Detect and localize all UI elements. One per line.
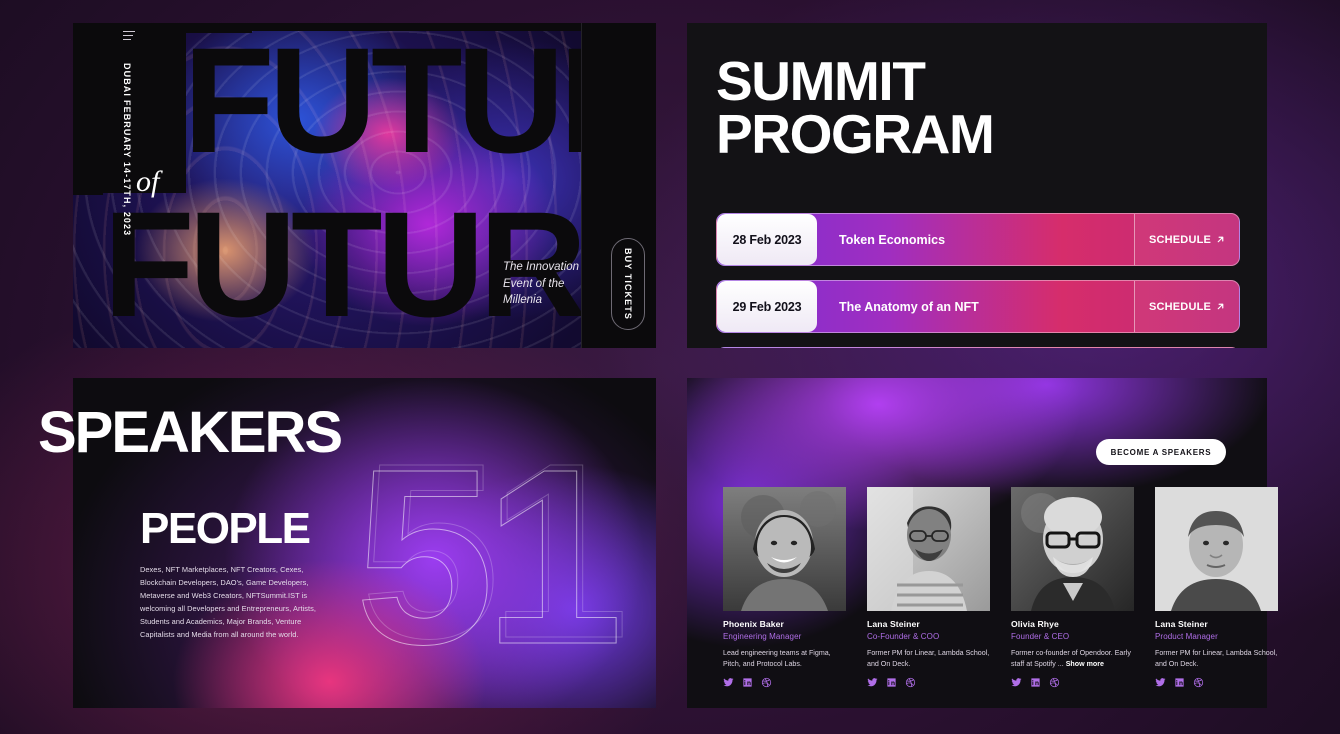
dribbble-icon[interactable] — [1049, 677, 1060, 688]
speaker-grid: Phoenix Baker Engineering Manager Lead e… — [723, 487, 1235, 688]
program-title-line2: PROGRAM — [716, 108, 993, 161]
table-row[interactable] — [716, 347, 1240, 348]
hero-date-label: FEBRUARY 14-17TH, 2023 — [122, 100, 132, 236]
slide-deck-canvas: FUTURE FUTURE of The Innovation Event of… — [0, 0, 1340, 734]
program-title: SUMMIT PROGRAM — [716, 55, 993, 161]
schedule-button-label: SCHEDULE — [1149, 234, 1211, 246]
speaker-bio: Former PM for Linear, Lambda School, and… — [867, 648, 990, 670]
linkedin-icon[interactable] — [742, 677, 753, 688]
speaker-role: Engineering Manager — [723, 632, 846, 641]
schedule-button-label: SCHEDULE — [1149, 301, 1211, 313]
arrow-up-right-icon — [1216, 235, 1225, 244]
buy-tickets-label: BUY TICKETS — [623, 248, 633, 320]
people-description: Dexes, NFT Marketplaces, NFT Creators, C… — [140, 564, 322, 642]
speaker-bio: Former co-founder of Opendoor. Early sta… — [1011, 648, 1134, 670]
linkedin-icon[interactable] — [1030, 677, 1041, 688]
speaker-card[interactable]: Lana Steiner Co-Founder & COO Former PM … — [867, 487, 990, 688]
avatar — [867, 487, 990, 611]
schedule-date: 28 Feb 2023 — [717, 214, 817, 265]
schedule-button[interactable]: SCHEDULE — [1134, 281, 1239, 332]
speaker-social-links — [1155, 677, 1278, 688]
twitter-icon[interactable] — [1155, 677, 1166, 688]
dribbble-icon[interactable] — [761, 677, 772, 688]
speaker-name: Phoenix Baker — [723, 619, 846, 629]
speaker-name: Lana Steiner — [867, 619, 990, 629]
speaker-role: Co-Founder & COO — [867, 632, 990, 641]
hero-panel: FUTURE FUTURE of The Innovation Event of… — [73, 23, 656, 348]
schedule-title: The Anatomy of an NFT — [817, 281, 1134, 332]
hero-city-label: DUBAI — [122, 63, 132, 97]
speaker-portrait-4 — [1155, 487, 1278, 611]
hero-word-of: of — [136, 165, 159, 199]
schedule-list: 28 Feb 2023 Token Economics SCHEDULE 29 … — [716, 213, 1240, 348]
page-title: PEOPLE — [140, 504, 310, 554]
table-row[interactable]: 28 Feb 2023 Token Economics SCHEDULE — [716, 213, 1240, 266]
speaker-card[interactable]: Olivia Rhye Founder & CEO Former co-foun… — [1011, 487, 1134, 688]
speaker-bio-text: Former PM for Linear, Lambda School, and… — [867, 649, 989, 668]
speaker-social-links — [1011, 677, 1134, 688]
avatar — [1011, 487, 1134, 611]
speaker-social-links — [723, 677, 846, 688]
dribbble-icon[interactable] — [1193, 677, 1204, 688]
hero-tagline: The Innovation Event of the Millenia — [503, 259, 598, 309]
speaker-social-links — [867, 677, 990, 688]
speaker-portrait-1 — [723, 487, 846, 611]
become-a-speaker-button[interactable]: BECOME A SPEAKERS — [1096, 439, 1226, 465]
linkedin-icon[interactable] — [886, 677, 897, 688]
twitter-icon[interactable] — [1011, 677, 1022, 688]
speaker-name: Lana Steiner — [1155, 619, 1278, 629]
twitter-icon[interactable] — [867, 677, 878, 688]
speaker-portrait-2 — [867, 487, 990, 611]
schedule-button[interactable]: SCHEDULE — [1134, 214, 1239, 265]
table-row[interactable]: 29 Feb 2023 The Anatomy of an NFT SCHEDU… — [716, 280, 1240, 333]
buy-tickets-button[interactable]: BUY TICKETS — [611, 238, 645, 330]
twitter-icon[interactable] — [723, 677, 734, 688]
speaker-card[interactable]: Phoenix Baker Engineering Manager Lead e… — [723, 487, 846, 688]
speaker-name: Olivia Rhye — [1011, 619, 1134, 629]
show-more-link[interactable]: Show more — [1066, 660, 1104, 668]
speaker-bio-text: Lead engineering teams at Figma, Pitch, … — [723, 649, 831, 668]
avatar — [723, 487, 846, 611]
schedule-title: Token Economics — [817, 214, 1134, 265]
schedule-date: 29 Feb 2023 — [717, 281, 817, 332]
dribbble-icon[interactable] — [905, 677, 916, 688]
hamburger-icon[interactable] — [123, 31, 135, 43]
speaker-bio: Former PM for Linear, Lambda School, and… — [1155, 648, 1278, 670]
arrow-up-right-icon — [1216, 302, 1225, 311]
speaker-bio-text: Former PM for Linear, Lambda School, and… — [1155, 649, 1277, 668]
hero-mask-mid — [73, 189, 103, 195]
speakers-title: SPEAKERS — [38, 404, 341, 462]
avatar — [1155, 487, 1278, 611]
summit-program-panel: SUMMIT PROGRAM 28 Feb 2023 Token Economi… — [687, 23, 1267, 348]
speaker-role: Product Manager — [1155, 632, 1278, 641]
speaker-portrait-3 — [1011, 487, 1134, 611]
linkedin-icon[interactable] — [1174, 677, 1185, 688]
speaker-card[interactable]: Lana Steiner Product Manager Former PM f… — [1155, 487, 1278, 688]
speaker-bio: Lead engineering teams at Figma, Pitch, … — [723, 648, 846, 670]
speaker-role: Founder & CEO — [1011, 632, 1134, 641]
become-a-speaker-label: BECOME A SPEAKERS — [1111, 448, 1212, 457]
